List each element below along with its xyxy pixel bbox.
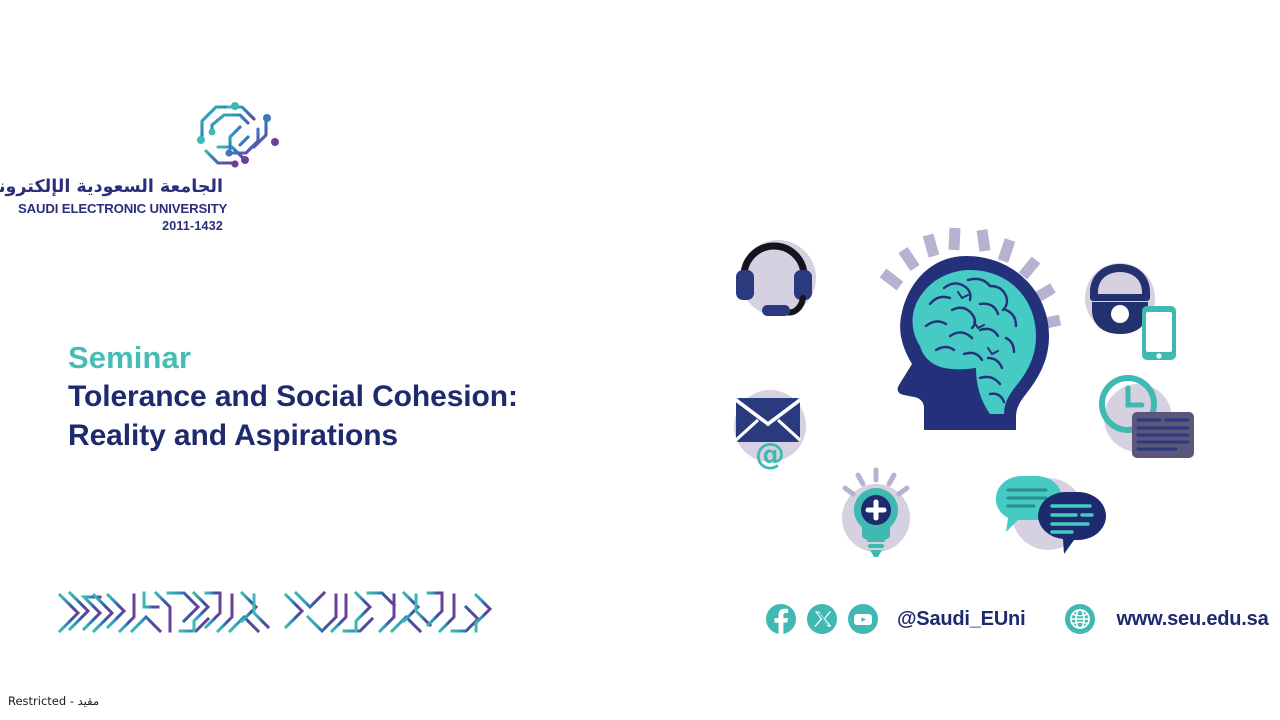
restricted-notice: Restricted - مقيد xyxy=(8,694,99,708)
email-envelope-icon: @ xyxy=(714,372,824,474)
page-title-line-1: Tolerance and Social Cohesion: xyxy=(68,377,628,417)
website-url: www.seu.edu.sa xyxy=(1116,608,1268,631)
youtube-icon[interactable] xyxy=(848,604,878,634)
social-handle: @Saudi_EUni xyxy=(897,608,1025,631)
telephone-mobile-icon xyxy=(1068,250,1188,366)
university-logo: الجامعة السعودية الإلكترونية SAUDI ELECT… xyxy=(18,95,278,240)
seminar-eyebrow-label: Seminar xyxy=(68,340,628,377)
x-twitter-icon[interactable] xyxy=(807,604,837,634)
svg-text:@: @ xyxy=(755,437,785,472)
lightbulb-plus-icon xyxy=(824,462,928,562)
seu-hexagon-circuit-logo xyxy=(188,95,284,177)
logo-arabic-name: الجامعة السعودية الإلكترونية xyxy=(18,177,223,197)
logo-english-name: SAUDI ELECTRONIC UNIVERSITY xyxy=(18,201,223,216)
social-media-footer: @Saudi_EUni www.seu.edu.sa xyxy=(766,598,1269,640)
circuit-pattern-band xyxy=(48,583,500,641)
page-title-line-2: Reality and Aspirations xyxy=(68,416,628,456)
headset-icon xyxy=(718,220,830,324)
logo-established-year: 2011-1432 xyxy=(18,219,223,233)
head-with-brain-communication-icons: @ xyxy=(700,212,1260,572)
globe-icon[interactable] xyxy=(1065,604,1095,634)
chat-bubbles-icon xyxy=(984,460,1110,566)
slide-title-block: Seminar Tolerance and Social Cohesion: R… xyxy=(68,340,628,456)
clock-document-icon xyxy=(1080,362,1204,474)
brain-head-icon xyxy=(840,218,1100,468)
presentation-slide: الجامعة السعودية الإلكترونية SAUDI ELECT… xyxy=(0,0,1280,720)
facebook-icon[interactable] xyxy=(766,604,796,634)
